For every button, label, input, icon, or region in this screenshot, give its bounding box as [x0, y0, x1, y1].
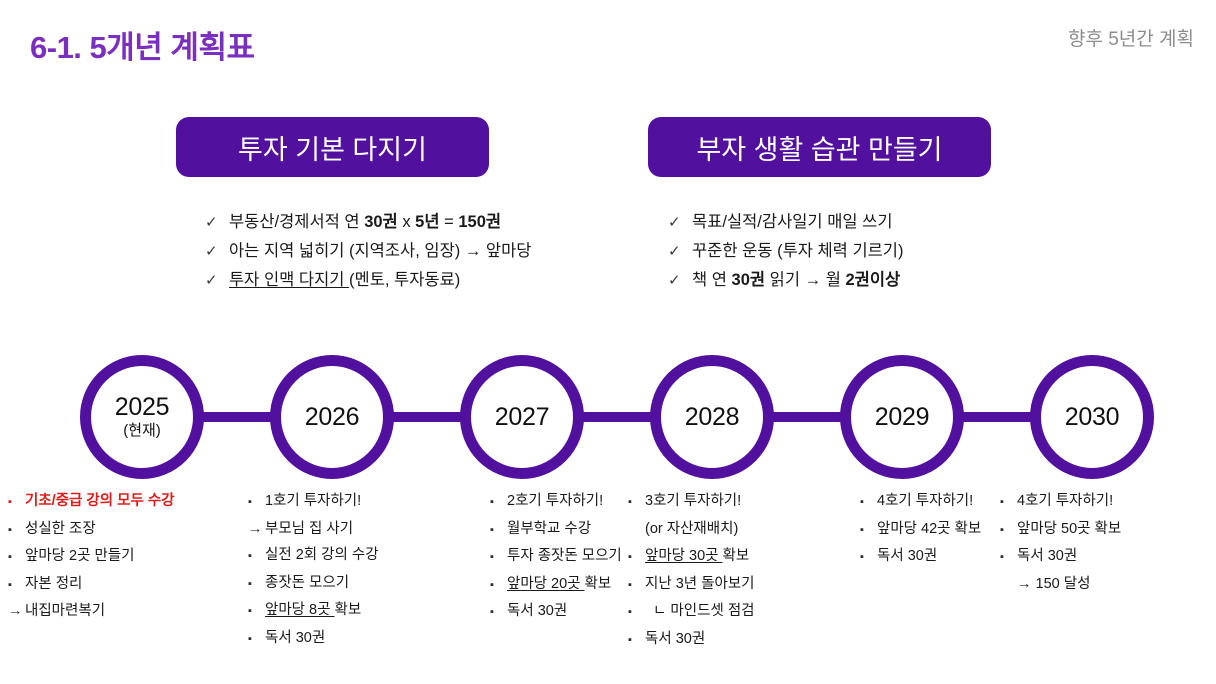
year-item: ▪자본 정리 — [8, 571, 175, 599]
year-item: ▪앞마당 50곳 확보 — [1000, 516, 1121, 544]
year-item: ▪월부학교 수강 — [490, 516, 622, 544]
year-item-label: 앞마당 42곳 확보 — [877, 516, 981, 543]
square-bullet-icon: ▪ — [248, 626, 265, 653]
year-column-2027: ▪2호기 투자하기!▪월부학교 수강▪투자 종잣돈 모으기▪앞마당 20곳 확보… — [490, 488, 622, 626]
checklist-item: ✓투자 인맥 다지기 (멘토, 투자동료) — [205, 266, 531, 295]
year-item: ▪4호기 투자하기! — [1000, 488, 1121, 516]
timeline-node-2027[interactable]: 2027 — [460, 355, 584, 479]
year-item: ▪앞마당 20곳 확보 — [490, 571, 622, 599]
year-item-label: 기초/중급 강의 모두 수강 — [25, 488, 175, 515]
page-title: 6-1. 5개년 계획표 — [30, 22, 254, 67]
year-item-label: 앞마당 50곳 확보 — [1017, 516, 1121, 543]
year-item-label: 독서 30권 — [1017, 543, 1077, 570]
square-bullet-icon: ▪ — [628, 489, 645, 516]
timeline-year-label: 2028 — [685, 404, 739, 430]
timeline-node-2026[interactable]: 2026 — [270, 355, 394, 479]
square-bullet-icon: ▪ — [1000, 517, 1017, 544]
year-item-label: 독서 30권 — [507, 598, 567, 625]
checklist-item-label: 투자 인맥 다지기 (멘토, 투자동료) — [229, 266, 460, 295]
check-icon: ✓ — [668, 266, 692, 295]
year-item: ▪성실한 조장 — [8, 516, 175, 544]
year-item-label: 독서 30권 — [645, 626, 705, 653]
timeline-node-2030[interactable]: 2030 — [1030, 355, 1154, 479]
year-column-2025: ▪기초/중급 강의 모두 수강▪성실한 조장▪앞마당 2곳 만들기▪자본 정리→… — [8, 488, 175, 625]
square-bullet-icon: ▪ — [628, 572, 645, 599]
year-item-label: → 150 달성 — [1017, 571, 1090, 598]
year-item-label: 내집마련복기 — [25, 598, 105, 625]
year-item: ▪독서 30권 — [860, 543, 981, 571]
check-icon: ✓ — [668, 208, 692, 237]
year-item-label: 성실한 조장 — [25, 516, 96, 543]
year-column-2028: ▪3호기 투자하기!▪(or 자산재배치)▪앞마당 30곳 확보▪지난 3년 돌… — [628, 488, 755, 653]
year-column-2026: ▪1호기 투자하기!→부모님 집 사기▪실전 2회 강의 수강▪종잣돈 모으기▪… — [248, 488, 379, 652]
goal-checklist-1: ✓목표/실적/감사일기 매일 쓰기✓꾸준한 운동 (투자 체력 기르기)✓책 연… — [668, 208, 904, 295]
goal-checklist-0: ✓부동산/경제서적 연 30권 x 5년 = 150권✓아는 지역 넓히기 (지… — [205, 208, 531, 295]
goal-banner-0: 투자 기본 다지기 — [176, 117, 489, 177]
square-bullet-icon: ▪ — [1000, 544, 1017, 571]
checklist-item: ✓아는 지역 넓히기 (지역조사, 임장) → 앞마당 — [205, 237, 531, 266]
year-item: ▪(or 자산재배치) — [628, 516, 755, 544]
year-item-label: 실전 2회 강의 수강 — [265, 542, 379, 569]
year-item: ▪ ㄴ 마인드셋 점검 — [628, 598, 755, 626]
timeline-year-label: 2030 — [1065, 404, 1119, 430]
square-bullet-icon: ▪ — [8, 544, 25, 571]
checklist-item: ✓꾸준한 운동 (투자 체력 기르기) — [668, 237, 904, 266]
year-item-label: 2호기 투자하기! — [507, 488, 603, 515]
year-item-label: 독서 30권 — [265, 625, 325, 652]
check-icon: ✓ — [205, 266, 229, 295]
checklist-item-label: 목표/실적/감사일기 매일 쓰기 — [692, 208, 893, 237]
bullet-spacer: ▪ — [1000, 572, 1017, 599]
checklist-item: ✓목표/실적/감사일기 매일 쓰기 — [668, 208, 904, 237]
check-icon: ✓ — [205, 208, 229, 237]
year-item-label: 4호기 투자하기! — [1017, 488, 1113, 515]
checklist-item-label: 부동산/경제서적 연 30권 x 5년 = 150권 — [229, 208, 501, 237]
arrow-icon: → — [8, 598, 25, 625]
year-item: ▪앞마당 2곳 만들기 — [8, 543, 175, 571]
year-item: ▪4호기 투자하기! — [860, 488, 981, 516]
timeline-year-sublabel: (현재) — [123, 422, 161, 440]
year-item: ▪앞마당 30곳 확보 — [628, 543, 755, 571]
square-bullet-icon: ▪ — [490, 489, 507, 516]
year-item-label: (or 자산재배치) — [645, 516, 738, 543]
year-item-label: 앞마당 30곳 확보 — [645, 543, 749, 570]
square-bullet-icon: ▪ — [628, 544, 645, 571]
square-bullet-icon: ▪ — [248, 571, 265, 598]
year-item-label: 독서 30권 — [877, 543, 937, 570]
year-item: ▪2호기 투자하기! — [490, 488, 622, 516]
year-item-label: 앞마당 8곳 확보 — [265, 597, 361, 624]
year-item: ▪1호기 투자하기! — [248, 488, 379, 516]
square-bullet-icon: ▪ — [490, 599, 507, 626]
square-bullet-icon: ▪ — [248, 543, 265, 570]
square-bullet-icon: ▪ — [8, 517, 25, 544]
year-item: ▪→ 150 달성 — [1000, 571, 1121, 599]
square-bullet-icon: ▪ — [860, 517, 877, 544]
square-bullet-icon: ▪ — [490, 572, 507, 599]
square-bullet-icon: ▪ — [1000, 489, 1017, 516]
year-item-label: 종잣돈 모으기 — [265, 570, 349, 597]
timeline-year-label: 2026 — [305, 404, 359, 430]
year-item: →내집마련복기 — [8, 598, 175, 625]
bullet-spacer: ▪ — [628, 517, 645, 544]
year-item: ▪3호기 투자하기! — [628, 488, 755, 516]
timeline-node-2029[interactable]: 2029 — [840, 355, 964, 479]
year-item: ▪투자 종잣돈 모으기 — [490, 543, 622, 571]
check-icon: ✓ — [205, 237, 229, 266]
year-item: ▪독서 30권 — [1000, 543, 1121, 571]
checklist-item-label: 책 연 30권 읽기 → 월 2권이상 — [692, 266, 900, 295]
timeline: 2025(현재)20262027202820292030 — [0, 355, 1216, 485]
year-item-label: 지난 3년 돌아보기 — [645, 571, 755, 598]
year-item: ▪지난 3년 돌아보기 — [628, 571, 755, 599]
year-item: ▪독서 30권 — [628, 626, 755, 654]
timeline-year-label: 2029 — [875, 404, 929, 430]
year-item-label: 부모님 집 사기 — [265, 516, 353, 543]
square-bullet-icon: ▪ — [248, 598, 265, 625]
year-item: ▪앞마당 8곳 확보 — [248, 597, 379, 625]
checklist-item: ✓책 연 30권 읽기 → 월 2권이상 — [668, 266, 904, 295]
year-item: ▪실전 2회 강의 수강 — [248, 542, 379, 570]
timeline-year-label: 2025 — [115, 394, 169, 420]
year-item-label: 3호기 투자하기! — [645, 488, 741, 515]
header-note: 향후 5년간 계획 — [1068, 24, 1194, 51]
square-bullet-icon: ▪ — [8, 489, 25, 516]
year-column-2030: ▪4호기 투자하기!▪앞마당 50곳 확보▪독서 30권▪→ 150 달성 — [1000, 488, 1121, 598]
check-icon: ✓ — [668, 237, 692, 266]
timeline-node-2025[interactable]: 2025(현재) — [80, 355, 204, 479]
year-item: ▪독서 30권 — [490, 598, 622, 626]
year-item-label: 4호기 투자하기! — [877, 488, 973, 515]
square-bullet-icon: ▪ — [628, 599, 645, 626]
arrow-icon: → — [248, 516, 265, 543]
year-column-2029: ▪4호기 투자하기!▪앞마당 42곳 확보▪독서 30권 — [860, 488, 981, 571]
checklist-item-label: 꾸준한 운동 (투자 체력 기르기) — [692, 237, 904, 266]
year-item: →부모님 집 사기 — [248, 516, 379, 543]
checklist-item: ✓부동산/경제서적 연 30권 x 5년 = 150권 — [205, 208, 531, 237]
square-bullet-icon: ▪ — [628, 627, 645, 654]
timeline-year-label: 2027 — [495, 404, 549, 430]
year-item: ▪독서 30권 — [248, 625, 379, 653]
year-item: ▪종잣돈 모으기 — [248, 570, 379, 598]
year-item-label: 투자 종잣돈 모으기 — [507, 543, 622, 570]
checklist-item-label: 아는 지역 넓히기 (지역조사, 임장) → 앞마당 — [229, 237, 531, 266]
square-bullet-icon: ▪ — [490, 517, 507, 544]
square-bullet-icon: ▪ — [860, 544, 877, 571]
square-bullet-icon: ▪ — [860, 489, 877, 516]
year-item-label: ㄴ 마인드셋 점검 — [645, 598, 755, 625]
year-item: ▪기초/중급 강의 모두 수강 — [8, 488, 175, 516]
square-bullet-icon: ▪ — [490, 544, 507, 571]
year-item-label: 자본 정리 — [25, 571, 82, 598]
square-bullet-icon: ▪ — [248, 489, 265, 516]
year-item-label: 앞마당 20곳 확보 — [507, 571, 611, 598]
year-item-label: 1호기 투자하기! — [265, 488, 361, 515]
square-bullet-icon: ▪ — [8, 572, 25, 599]
year-item-label: 앞마당 2곳 만들기 — [25, 543, 135, 570]
timeline-node-2028[interactable]: 2028 — [650, 355, 774, 479]
goal-banner-1: 부자 생활 습관 만들기 — [648, 117, 991, 177]
year-item-label: 월부학교 수강 — [507, 516, 591, 543]
year-item: ▪앞마당 42곳 확보 — [860, 516, 981, 544]
